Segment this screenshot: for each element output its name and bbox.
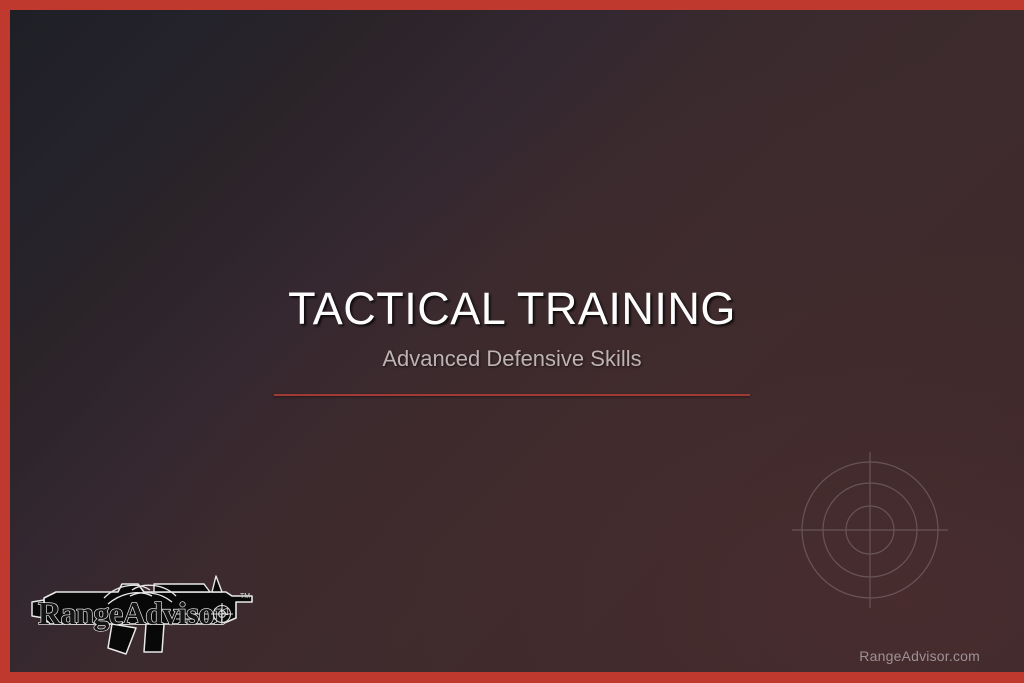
logo-wordmark: RangeAdvisor <box>38 595 228 631</box>
logo-trademark-mark: TM <box>240 593 250 600</box>
frame-bar-top <box>0 0 1024 10</box>
frame-bar-bottom <box>0 672 1024 683</box>
title-divider-rule <box>274 394 750 396</box>
presentation-slide: TACTICAL TRAINING Advanced Defensive Ski… <box>0 0 1024 683</box>
rangeadvisor-logo: RangeAdvisor TM <box>26 562 262 658</box>
slide-title: TACTICAL TRAINING <box>0 285 1024 334</box>
footer-website-url: RangeAdvisor.com <box>859 648 980 664</box>
title-block: TACTICAL TRAINING Advanced Defensive Ski… <box>0 285 1024 396</box>
slide-subtitle: Advanced Defensive Skills <box>0 346 1024 372</box>
crosshair-reticle-icon <box>790 450 950 610</box>
